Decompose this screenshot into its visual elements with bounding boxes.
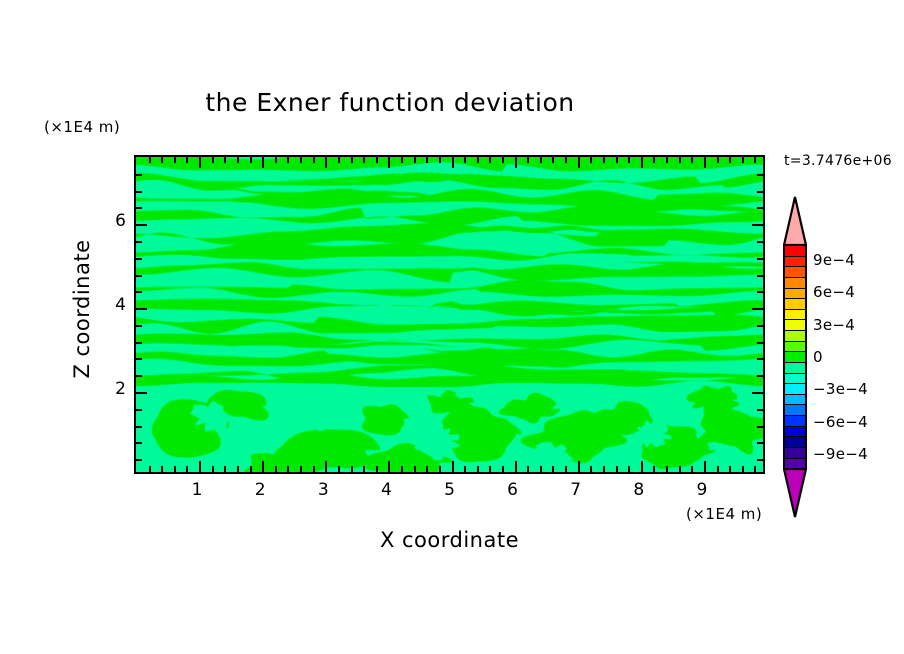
x-axis-tick xyxy=(426,466,428,472)
x-axis-tick-top xyxy=(603,157,605,163)
y-axis-tick-right xyxy=(752,308,763,310)
y-axis-tick-right xyxy=(757,409,763,411)
y-axis-tick-right xyxy=(757,191,763,193)
colorbar-band xyxy=(785,288,805,299)
x-axis-tick-top xyxy=(717,157,719,163)
x-axis-tick-top xyxy=(552,157,554,163)
colorbar-band xyxy=(785,309,805,320)
x-axis-tick-top xyxy=(452,157,454,168)
x-axis-tick-top xyxy=(300,157,302,163)
colorbar-band xyxy=(785,415,805,426)
x-axis-tick xyxy=(237,466,239,472)
y-axis-tick xyxy=(136,325,142,327)
y-axis-tick xyxy=(136,392,147,394)
x-axis-tick xyxy=(338,466,340,472)
x-axis-tick xyxy=(754,466,756,472)
colorbar-band-strip xyxy=(783,244,807,470)
colorbar-band xyxy=(785,256,805,267)
y-axis-tick-right xyxy=(757,342,763,344)
y-axis-tick xyxy=(136,275,142,277)
y-axis-tick-label: 4 xyxy=(104,295,126,315)
x-axis-tick-top xyxy=(338,157,340,163)
x-axis-tick-top xyxy=(426,157,428,163)
x-axis-tick xyxy=(565,466,567,472)
y-axis-tick xyxy=(136,459,142,461)
x-axis-tick xyxy=(489,466,491,472)
x-axis-tick-top xyxy=(515,157,517,168)
y-axis-tick xyxy=(136,241,142,243)
y-axis-tick-right xyxy=(757,258,763,260)
x-axis-tick xyxy=(464,466,466,472)
x-axis-tick xyxy=(477,466,479,472)
x-axis-tick-top xyxy=(729,157,731,163)
y-axis-tick xyxy=(136,426,142,428)
x-axis-tick-top xyxy=(262,157,264,168)
colorbar-top-arrow-icon xyxy=(783,196,807,246)
x-axis-tick-top xyxy=(313,157,315,163)
x-axis-tick-top xyxy=(287,157,289,163)
y-axis-tick xyxy=(136,224,147,226)
x-axis-tick-label: 3 xyxy=(308,480,338,500)
y-axis-tick-right xyxy=(757,358,763,360)
x-axis-tick xyxy=(704,461,706,472)
colorbar-bottom-arrow-icon xyxy=(783,468,807,518)
y-axis-tick xyxy=(136,342,142,344)
x-axis-tick-top xyxy=(679,157,681,163)
x-axis-tick xyxy=(691,466,693,472)
x-axis-tick-top xyxy=(540,157,542,163)
x-axis-tick xyxy=(578,461,580,472)
colorbar-band xyxy=(785,373,805,384)
y-axis-tick-label: 6 xyxy=(104,211,126,231)
x-axis-tick-top xyxy=(641,157,643,168)
x-axis-tick-top xyxy=(489,157,491,163)
x-axis-tick-label: 7 xyxy=(561,480,591,500)
x-axis-tick-top xyxy=(616,157,618,163)
x-axis-tick-label: 8 xyxy=(624,480,654,500)
colorbar-band xyxy=(785,298,805,309)
y-axis-tick-right xyxy=(757,375,763,377)
y-axis-tick xyxy=(136,409,142,411)
y-axis-tick-right xyxy=(757,325,763,327)
x-axis-tick xyxy=(540,466,542,472)
contour-field-canvas xyxy=(136,157,763,472)
colorbar-band xyxy=(785,447,805,458)
x-axis-tick xyxy=(603,466,605,472)
colorbar-band xyxy=(785,458,805,469)
y-axis-tick xyxy=(136,258,142,260)
y-axis-tick xyxy=(136,375,142,377)
x-axis-tick xyxy=(527,466,529,472)
colorbar: 9e−46e−43e−40−3e−4−6e−4−9e−4 xyxy=(780,196,900,516)
x-axis-tick xyxy=(250,466,252,472)
x-axis-tick xyxy=(717,466,719,472)
y-axis-tick xyxy=(136,191,142,193)
y-axis-tick-right xyxy=(757,241,763,243)
x-axis-tick xyxy=(287,466,289,472)
x-axis-tick-label: 2 xyxy=(245,480,275,500)
y-axis-tick-right xyxy=(752,392,763,394)
y-axis-tick xyxy=(136,207,142,209)
x-axis-tick xyxy=(666,466,668,472)
x-axis-tick-top xyxy=(439,157,441,163)
horizontal-axis-unit-label: (×1E4 m) xyxy=(686,505,762,523)
x-axis-tick-top xyxy=(174,157,176,163)
x-axis-tick-top xyxy=(742,157,744,163)
x-axis-tick xyxy=(161,466,163,472)
x-axis-tick-top xyxy=(565,157,567,163)
x-axis-tick-label: 5 xyxy=(435,480,465,500)
y-axis-tick xyxy=(136,291,142,293)
colorbar-band xyxy=(785,266,805,277)
x-axis-tick-top xyxy=(464,157,466,163)
x-axis-tick-top xyxy=(691,157,693,163)
y-axis-title: Z coordinate xyxy=(70,199,94,419)
y-axis-tick xyxy=(136,308,147,310)
x-axis-tick-top xyxy=(250,157,252,163)
x-axis-tick xyxy=(300,466,302,472)
x-axis-tick-top xyxy=(351,157,353,163)
x-axis-tick-top xyxy=(161,157,163,163)
colorbar-band xyxy=(785,246,805,256)
x-axis-tick xyxy=(388,461,390,472)
x-axis-tick xyxy=(452,461,454,472)
x-axis-tick xyxy=(376,466,378,472)
x-axis-tick xyxy=(363,466,365,472)
x-axis-tick xyxy=(149,466,151,472)
colorbar-tick-label: −9e−4 xyxy=(813,445,868,463)
x-axis-tick xyxy=(275,466,277,472)
x-axis-tick xyxy=(174,466,176,472)
x-axis-tick xyxy=(186,466,188,472)
x-axis-tick xyxy=(628,466,630,472)
colorbar-band xyxy=(785,341,805,352)
x-axis-tick-top xyxy=(527,157,529,163)
x-axis-tick-top xyxy=(628,157,630,163)
y-axis-tick-right xyxy=(757,291,763,293)
colorbar-band xyxy=(785,319,805,330)
x-axis-tick xyxy=(552,466,554,472)
x-axis-tick xyxy=(313,466,315,472)
x-axis-tick-label: 1 xyxy=(182,480,212,500)
x-axis-tick-top xyxy=(388,157,390,168)
x-axis-tick-top xyxy=(363,157,365,163)
y-axis-tick-right xyxy=(757,207,763,209)
colorbar-band xyxy=(785,394,805,405)
vertical-axis-unit-label: (×1E4 m) xyxy=(44,118,120,136)
colorbar-band xyxy=(785,436,805,447)
x-axis-tick xyxy=(616,466,618,472)
colorbar-tick-label: 9e−4 xyxy=(813,251,855,269)
x-axis-tick-top xyxy=(325,157,327,168)
x-axis-tick-top xyxy=(414,157,416,163)
x-axis-tick xyxy=(325,461,327,472)
colorbar-tick-label: 0 xyxy=(813,348,823,366)
x-axis-tick-top xyxy=(754,157,756,163)
colorbar-band xyxy=(785,277,805,288)
x-axis-tick-top xyxy=(376,157,378,163)
x-axis-tick xyxy=(212,466,214,472)
x-axis-tick xyxy=(641,461,643,472)
colorbar-band xyxy=(785,351,805,362)
y-axis-tick xyxy=(136,358,142,360)
colorbar-band xyxy=(785,383,805,394)
x-axis-tick-top xyxy=(237,157,239,163)
x-axis-tick xyxy=(653,466,655,472)
x-axis-tick-label: 9 xyxy=(687,480,717,500)
x-axis-tick-top xyxy=(578,157,580,168)
x-axis-tick-label: 6 xyxy=(498,480,528,500)
x-axis-tick xyxy=(401,466,403,472)
x-axis-tick xyxy=(262,461,264,472)
colorbar-tick-label: −3e−4 xyxy=(813,380,868,398)
y-axis-tick-right xyxy=(757,459,763,461)
x-axis-tick-top xyxy=(212,157,214,163)
colorbar-band xyxy=(785,404,805,415)
x-axis-tick-label: 4 xyxy=(371,480,401,500)
colorbar-tick-label: 6e−4 xyxy=(813,283,855,301)
x-axis-tick-top xyxy=(477,157,479,163)
x-axis-tick-top xyxy=(704,157,706,168)
y-axis-tick-right xyxy=(757,275,763,277)
y-axis-tick xyxy=(136,442,142,444)
x-axis-tick-top xyxy=(502,157,504,163)
x-axis-tick xyxy=(590,466,592,472)
y-axis-tick-right xyxy=(757,426,763,428)
x-axis-tick-top xyxy=(590,157,592,163)
x-axis-tick-top xyxy=(199,157,201,168)
x-axis-tick xyxy=(502,466,504,472)
x-axis-tick-top xyxy=(275,157,277,163)
x-axis-tick-top xyxy=(653,157,655,163)
x-axis-tick xyxy=(679,466,681,472)
x-axis-tick xyxy=(224,466,226,472)
x-axis-tick xyxy=(199,461,201,472)
colorbar-band xyxy=(785,362,805,373)
y-axis-tick xyxy=(136,174,142,176)
x-axis-tick xyxy=(742,466,744,472)
colorbar-band xyxy=(785,330,805,341)
y-axis-tick-label: 2 xyxy=(104,379,126,399)
y-axis-tick-right xyxy=(757,442,763,444)
colorbar-tick-label: −6e−4 xyxy=(813,413,868,431)
time-annotation: t=3.7476e+06 xyxy=(784,153,892,169)
colorbar-band xyxy=(785,426,805,437)
y-axis-tick-right xyxy=(752,224,763,226)
x-axis-tick-top xyxy=(666,157,668,163)
y-axis-tick-right xyxy=(757,174,763,176)
x-axis-tick xyxy=(515,461,517,472)
x-axis-tick-top xyxy=(224,157,226,163)
x-axis-tick-top xyxy=(149,157,151,163)
x-axis-tick xyxy=(351,466,353,472)
x-axis-tick-top xyxy=(401,157,403,163)
page-title: the Exner function deviation xyxy=(0,88,780,117)
x-axis-tick xyxy=(729,466,731,472)
contour-plot-area xyxy=(134,155,765,474)
colorbar-tick-label: 3e−4 xyxy=(813,316,855,334)
x-axis-tick-top xyxy=(186,157,188,163)
x-axis-title: X coordinate xyxy=(134,528,765,552)
x-axis-tick xyxy=(414,466,416,472)
x-axis-tick xyxy=(439,466,441,472)
